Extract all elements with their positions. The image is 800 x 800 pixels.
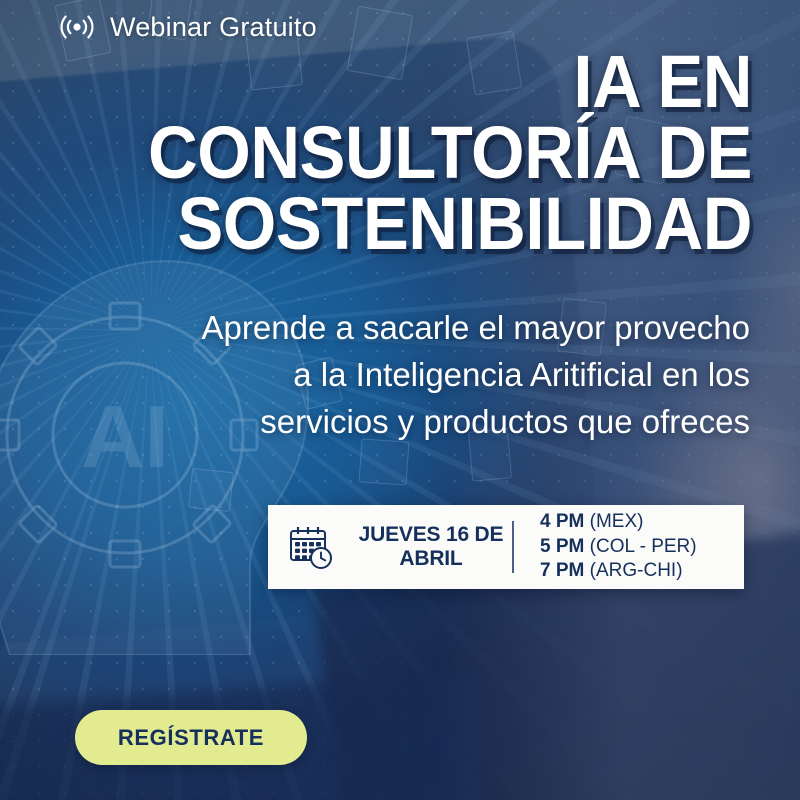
event-time-value: 5 PM [540, 536, 584, 557]
page-title: IA EN CONSULTORÍA DE SOSTENIBILIDAD [90, 46, 752, 259]
subtitle: Aprende a sacarle el mayor provecho a la… [60, 305, 750, 446]
subtitle-line-3: servicios y productos que ofreces [60, 399, 750, 446]
event-time-zone: (COL - PER) [590, 536, 697, 557]
event-time-zone: (MEX) [590, 511, 644, 532]
headline-line-3: SOSTENIBILIDAD [90, 188, 752, 259]
webinar-poster: AI Webinar Gratuito IA EN CONSULTORÍA DE [0, 0, 800, 800]
headline-line-2: CONSULTORÍA DE [90, 117, 752, 188]
headline-line-1: IA EN [90, 46, 752, 117]
event-date-line-2: ABRIL [350, 547, 512, 571]
event-time-row: 7 PM (ARG-CHI) [540, 559, 697, 584]
register-button-label: REGÍSTRATE [118, 725, 264, 751]
register-button[interactable]: REGÍSTRATE [75, 710, 307, 765]
event-time-value: 4 PM [540, 511, 584, 532]
subtitle-line-1: Aprende a sacarle el mayor provecho [60, 305, 750, 352]
event-time-row: 4 PM (MEX) [540, 510, 697, 535]
event-time-zone: (ARG-CHI) [590, 560, 683, 581]
poster-content: Webinar Gratuito IA EN CONSULTORÍA DE SO… [0, 0, 800, 800]
event-times-block: 4 PM (MEX) 5 PM (COL - PER) 7 PM (ARG-CH… [514, 510, 697, 584]
event-date-block: JUEVES 16 DE ABRIL [268, 523, 512, 572]
webinar-badge-label: Webinar Gratuito [110, 12, 317, 43]
event-date-line-1: JUEVES 16 DE [350, 523, 512, 547]
event-info-card: JUEVES 16 DE ABRIL 4 PM (MEX) 5 PM (COL … [268, 505, 744, 589]
webinar-badge: Webinar Gratuito [58, 8, 317, 46]
broadcast-icon [58, 8, 96, 46]
calendar-clock-icon [286, 523, 336, 571]
event-time-row: 5 PM (COL - PER) [540, 535, 697, 560]
event-time-value: 7 PM [540, 560, 584, 581]
card-divider [512, 521, 514, 573]
subtitle-line-2: a la Inteligencia Aritificial en los [60, 352, 750, 399]
event-date-text: JUEVES 16 DE ABRIL [350, 523, 512, 572]
